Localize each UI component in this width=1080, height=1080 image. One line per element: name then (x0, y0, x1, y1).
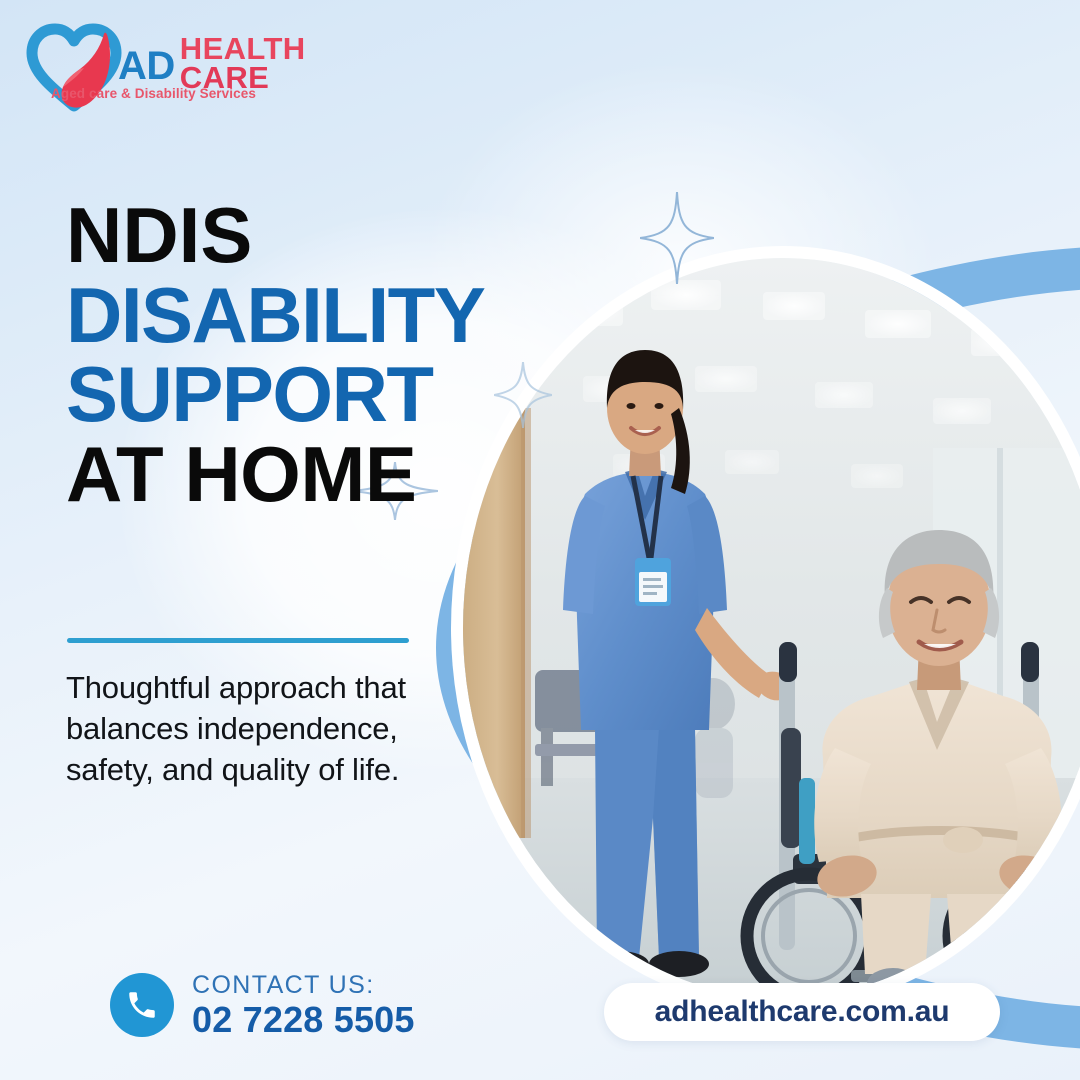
phone-icon[interactable] (110, 973, 174, 1037)
subtitle-line-1: Thoughtful approach that (66, 668, 506, 709)
website-url[interactable]: adhealthcare.com.au (655, 995, 950, 1029)
logo-ad-text: AD (118, 46, 175, 86)
contact-text-group: CONTACT US: 02 7228 5505 (192, 972, 415, 1039)
headline-line-1: NDIS (66, 196, 666, 276)
headline-line-2: DISABILITY (66, 276, 666, 356)
contact-label: CONTACT US: (192, 972, 415, 999)
website-badge[interactable]: adhealthcare.com.au (604, 983, 1000, 1041)
headline-divider (67, 638, 409, 643)
subtitle-text: Thoughtful approach that balances indepe… (66, 668, 506, 791)
contact-block[interactable]: CONTACT US: 02 7228 5505 (110, 972, 415, 1039)
brand-wordmark: AD HEALTH CARE (118, 26, 308, 59)
subtitle-line-2: balances independence, (66, 709, 506, 750)
headline-line-4: AT HOME (66, 435, 666, 515)
poster-canvas: AD HEALTH CARE Aged care & Disability Se… (0, 0, 1080, 1080)
logo-tagline: Aged care & Disability Services (51, 86, 256, 101)
page-title: NDIS DISABILITY SUPPORT AT HOME (66, 196, 666, 514)
headline-line-3: SUPPORT (66, 355, 666, 435)
brand-logo[interactable]: AD HEALTH CARE Aged care & Disability Se… (26, 20, 306, 118)
contact-phone-number[interactable]: 02 7228 5505 (192, 1001, 415, 1039)
subtitle-line-3: safety, and quality of life. (66, 750, 506, 791)
